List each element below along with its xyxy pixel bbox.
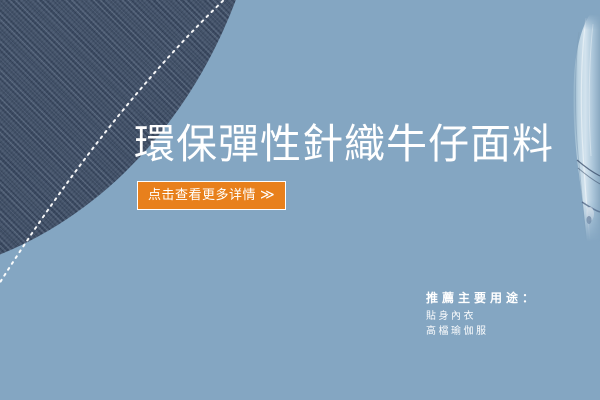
garment-photo	[566, 14, 600, 242]
usage-item: 高檔瑜伽服	[426, 324, 538, 339]
recommended-usage-list: 貼身內衣 高檔瑜伽服	[426, 309, 538, 339]
usage-item: 貼身內衣	[426, 309, 538, 324]
recommended-usage-block: 推薦主要用途： 貼身內衣 高檔瑜伽服	[426, 290, 538, 339]
banner-headline: 環保彈性針織牛仔面料	[134, 119, 554, 169]
recommended-usage-title: 推薦主要用途：	[426, 290, 538, 306]
garment-illustration	[566, 14, 600, 242]
double-chevron-right-icon: ≫	[260, 188, 275, 202]
product-banner: 環保彈性針織牛仔面料 点击查看更多详情 ≫ 推薦主要用途： 貼身內衣 高檔瑜伽服	[0, 0, 600, 400]
view-details-label: 点击查看更多详情	[148, 189, 256, 202]
view-details-button[interactable]: 点击查看更多详情 ≫	[137, 181, 286, 210]
